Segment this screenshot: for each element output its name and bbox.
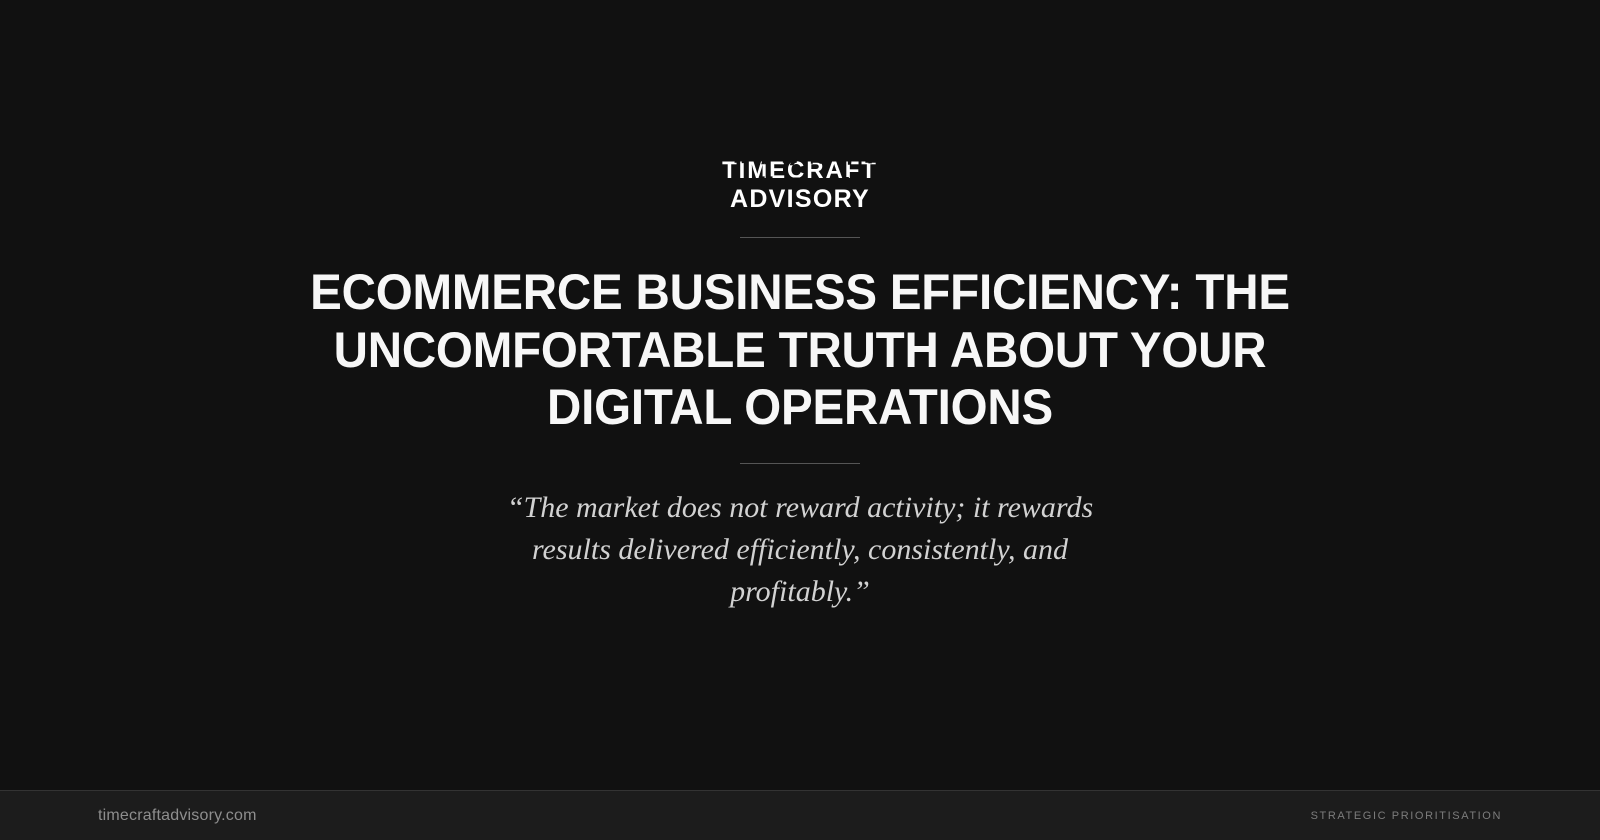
footer-section-tag: STRATEGIC PRIORITISATION: [1311, 810, 1502, 822]
brand-lockup: TIMECRAFT ADVISORY: [722, 158, 878, 212]
divider-below-headline: [740, 463, 860, 464]
brand-name-primary: TIMECRAFT: [722, 158, 878, 184]
slide-stage: TIMECRAFT ADVISORY ECOMMERCE BUSINESS EF…: [0, 0, 1600, 790]
page-title: ECOMMERCE BUSINESS EFFICIENCY: THE UNCOM…: [297, 264, 1304, 437]
title-slide: TIMECRAFT ADVISORY ECOMMERCE BUSINESS EF…: [0, 0, 1600, 840]
pull-quote: “The market does not reward activity; it…: [480, 487, 1120, 613]
footer-website-url[interactable]: timecraftadvisory.com: [98, 807, 257, 825]
brand-name-secondary: ADVISORY: [722, 186, 878, 213]
divider-above-headline: [740, 237, 860, 238]
footer-bar: timecraftadvisory.com STRATEGIC PRIORITI…: [0, 790, 1600, 840]
